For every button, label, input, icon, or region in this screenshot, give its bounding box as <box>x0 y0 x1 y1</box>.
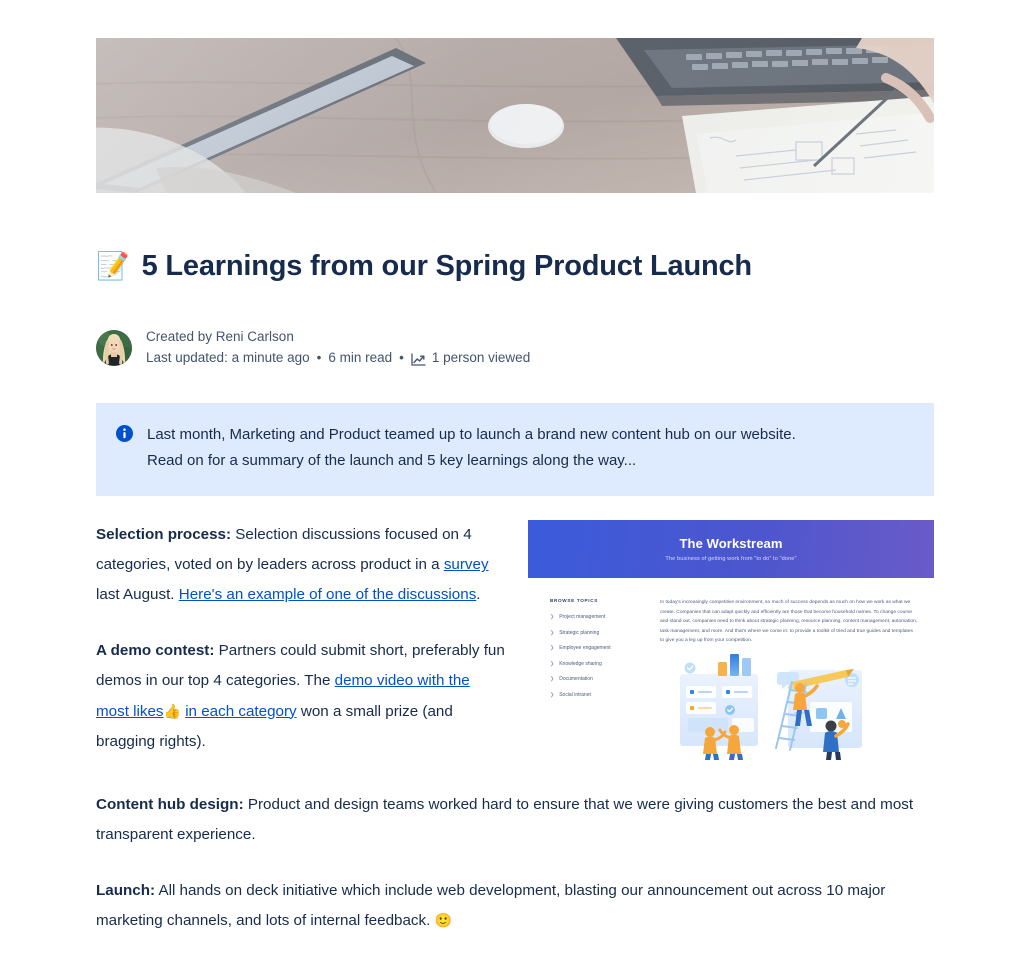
byline-views: 1 person viewed <box>432 348 530 369</box>
chevron-right-icon: ❯ <box>550 630 554 636</box>
card-body-text: In today's increasingly competitive envi… <box>660 598 918 646</box>
chevron-right-icon: ❯ <box>550 645 554 651</box>
avatar-graphic <box>96 330 132 366</box>
card-sidebar-heading: BROWSE TOPICS <box>550 598 646 603</box>
embedded-page-card[interactable]: The Workstream The business of getting w… <box>528 520 934 760</box>
paragraph-4-text: All hands on deck initiative which inclu… <box>96 882 885 929</box>
body-columns: Selection process: Selection discussions… <box>96 520 934 760</box>
card-sidebar-item-label: Social intranet <box>559 692 591 698</box>
document-content: 📝 5 Learnings from our Spring Product La… <box>96 38 934 962</box>
card-main: In today's increasingly competitive envi… <box>660 598 918 760</box>
document-page: 📝 5 Learnings from our Spring Product La… <box>0 0 1036 877</box>
analytics-chart-glyph <box>411 353 426 366</box>
page-title: 5 Learnings from our Spring Product Laun… <box>142 250 752 283</box>
author-avatar[interactable] <box>96 330 132 366</box>
card-sidebar-item[interactable]: ❯ Employee engagement <box>550 645 646 651</box>
each-category-link[interactable]: in each category <box>185 703 296 720</box>
paragraph-launch: Launch: All hands on deck initiative whi… <box>96 876 934 936</box>
byline-meta: Last updated: a minute ago • 6 min read … <box>146 348 530 369</box>
illustration-graphic <box>660 652 906 760</box>
card-sidebar-item-label: Knowledge sharing <box>559 661 602 667</box>
info-panel: Last month, Marketing and Product teamed… <box>96 403 934 496</box>
card-title: The Workstream <box>679 536 782 551</box>
discussion-example-link[interactable]: Here's an example of one of the discussi… <box>179 586 477 603</box>
card-sidebar-item[interactable]: ❯ Social intranet <box>550 692 646 698</box>
paragraph-1-text-2: last August. <box>96 586 179 603</box>
card-sidebar-item[interactable]: ❯ Project management <box>550 614 646 620</box>
slightly-smiling-face-emoji: 🙂 <box>435 912 452 928</box>
card-sidebar-item-label: Strategic planning <box>559 630 599 636</box>
paragraph-3-lead: Content hub design: <box>96 796 244 813</box>
card-sidebar-item-label: Project management <box>559 614 605 620</box>
hero-image <box>96 38 934 193</box>
card-sidebar-item-label: Employee engagement <box>559 645 610 651</box>
card-header: The Workstream The business of getting w… <box>528 520 934 578</box>
info-icon-glyph <box>116 425 133 442</box>
card-sidebar-item[interactable]: ❯ Strategic planning <box>550 630 646 636</box>
info-panel-line-2: Read on for a summary of the launch and … <box>147 448 796 475</box>
paragraph-2-lead: A demo contest: <box>96 642 214 659</box>
byline: Created by Reni Carlson Last updated: a … <box>96 327 934 369</box>
body-full-width: Content hub design: Product and design t… <box>96 790 934 936</box>
byline-separator-2: • <box>399 348 404 369</box>
thumbs-up-emoji: 👍 <box>164 703 181 719</box>
page-title-row: 📝 5 Learnings from our Spring Product La… <box>96 231 934 303</box>
card-sidebar: BROWSE TOPICS ❯ Project management ❯ Str… <box>550 598 646 760</box>
chevron-right-icon: ❯ <box>550 692 554 698</box>
memo-emoji: 📝 <box>96 253 130 280</box>
paragraph-content-hub-design: Content hub design: Product and design t… <box>96 790 934 850</box>
paragraph-4-lead: Launch: <box>96 882 155 899</box>
byline-last-updated: Last updated: a minute ago <box>146 348 310 369</box>
info-icon <box>116 425 133 475</box>
chevron-right-icon: ❯ <box>550 614 554 620</box>
teamwork-ladder-illustration <box>660 652 918 760</box>
card-subtitle: The business of getting work from "to do… <box>665 556 796 562</box>
paragraph-demo-contest: A demo contest: Partners could submit sh… <box>96 636 506 756</box>
byline-author: Created by Reni Carlson <box>146 327 530 348</box>
info-panel-text: Last month, Marketing and Product teamed… <box>147 422 796 475</box>
paragraph-selection-process: Selection process: Selection discussions… <box>96 520 506 610</box>
card-body: BROWSE TOPICS ❯ Project management ❯ Str… <box>528 578 934 760</box>
byline-text: Created by Reni Carlson Last updated: a … <box>146 327 530 369</box>
hero-photo-graphic <box>96 38 934 193</box>
survey-link[interactable]: survey <box>444 556 489 573</box>
card-sidebar-item[interactable]: ❯ Documentation <box>550 676 646 682</box>
chevron-right-icon: ❯ <box>550 661 554 667</box>
paragraph-1-text-3: . <box>476 586 480 603</box>
info-panel-line-1: Last month, Marketing and Product teamed… <box>147 422 796 449</box>
byline-read-time: 6 min read <box>328 348 392 369</box>
card-sidebar-item[interactable]: ❯ Knowledge sharing <box>550 661 646 667</box>
byline-separator-1: • <box>317 348 322 369</box>
analytics-chart-icon <box>411 353 426 366</box>
body-right-column: The Workstream The business of getting w… <box>528 520 934 760</box>
paragraph-1-lead: Selection process: <box>96 526 231 543</box>
chevron-right-icon: ❯ <box>550 676 554 682</box>
card-sidebar-item-label: Documentation <box>559 676 593 682</box>
body-left-column: Selection process: Selection discussions… <box>96 520 506 757</box>
